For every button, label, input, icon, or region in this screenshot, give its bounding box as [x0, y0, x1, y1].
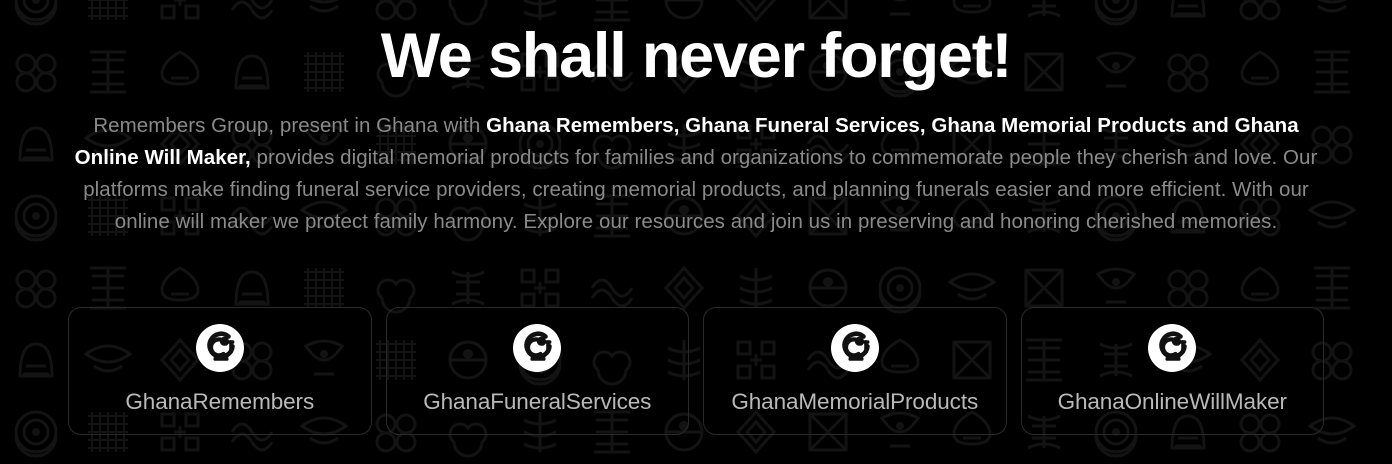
remembers-group-logo-icon: [196, 324, 244, 372]
hero-description-segment-3: provides digital memorial products for f…: [83, 146, 1317, 233]
brand-card-ghanaremembers[interactable]: GhanaRemembers: [68, 307, 372, 435]
remembers-group-logo-icon: [831, 324, 879, 372]
brand-card-label: GhanaRemembers: [125, 389, 314, 415]
brand-card-ghanafuneralservices[interactable]: GhanaFuneralServices: [386, 307, 690, 435]
brand-card-label: GhanaFuneralServices: [423, 389, 651, 415]
remembers-group-logo-icon: [1148, 324, 1196, 372]
brand-card-label: GhanaOnlineWillMaker: [1058, 389, 1287, 415]
remembers-group-logo-icon: [513, 324, 561, 372]
brand-card-ghanaonlinewillmaker[interactable]: GhanaOnlineWillMaker: [1021, 307, 1325, 435]
hero-description: Remembers Group, present in Ghana with G…: [71, 110, 1321, 238]
page-title: We shall never forget!: [381, 22, 1012, 90]
brand-card-ghanamemorialproducts[interactable]: GhanaMemorialProducts: [703, 307, 1007, 435]
brand-card-label: GhanaMemorialProducts: [731, 389, 978, 415]
hero-section: We shall never forget! Remembers Group, …: [0, 0, 1392, 464]
hero-description-segment-1: Remembers Group, present in Ghana with: [93, 114, 486, 137]
brand-card-list: GhanaRemembers GhanaFuneralServices: [68, 307, 1324, 435]
